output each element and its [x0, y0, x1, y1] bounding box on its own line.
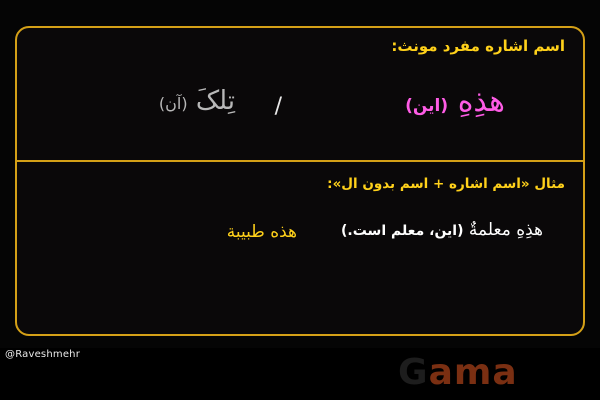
demonstrative-main-word: هذِهِ — [458, 84, 505, 119]
example-row: هذِهِ معلمةٌ (این، معلم است.) هذه طبيبة — [35, 220, 565, 260]
title-row: اسم اشاره مفرد مونث: — [35, 36, 565, 57]
demonstrative-alt: تِلکَ (آن) — [159, 86, 235, 116]
page-title: اسم اشاره مفرد مونث: — [35, 36, 565, 57]
demonstrative-alt-gloss: (آن) — [159, 94, 188, 113]
footer-bar: @Raveshmehr Gama — [0, 348, 600, 400]
slide-canvas: اسم اشاره مفرد مونث: هذِهِ (این) / تِلکَ… — [0, 0, 600, 400]
horizontal-divider — [17, 160, 583, 162]
demonstrative-alt-word: تِلکَ — [196, 86, 235, 116]
gama-watermark: Gama — [398, 352, 518, 393]
example-heading: مثال «اسم اشاره + اسم بدون ال»: — [35, 176, 565, 192]
channel-handle: @Raveshmehr — [5, 349, 80, 360]
demonstrative-row: هذِهِ (این) / تِلکَ (آن) — [35, 80, 565, 150]
watermark-part-1: G — [398, 352, 429, 393]
watermark-part-2: ama — [429, 352, 518, 393]
lesson-card: اسم اشاره مفرد مونث: هذِهِ (این) / تِلکَ… — [15, 26, 585, 336]
demonstrative-main: هذِهِ (این) — [405, 84, 505, 119]
example-sentence-arabic: هذِهِ معلمةٌ — [469, 220, 543, 240]
example-arabic-only: هذه طبيبة — [227, 222, 297, 242]
demonstrative-main-gloss: (این) — [405, 96, 448, 116]
example-sentence: هذِهِ معلمةٌ (این، معلم است.) — [341, 220, 543, 240]
example-sentence-gloss: (این، معلم است.) — [341, 223, 464, 239]
separator-slash: / — [275, 94, 282, 119]
